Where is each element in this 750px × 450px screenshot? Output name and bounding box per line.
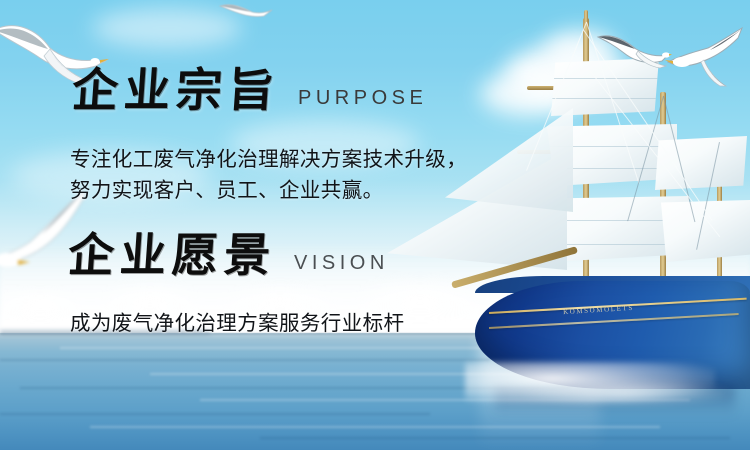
purpose-heading-row: 企业宗旨 PURPOSE <box>72 68 427 114</box>
seagull-over-mast-left <box>596 31 672 71</box>
bow-wave <box>515 380 735 406</box>
vision-heading-cn: 企业愿景 <box>66 233 277 279</box>
main-mast <box>660 92 666 297</box>
purpose-heading-en: PURPOSE <box>298 87 427 110</box>
purpose-line-1: 专注化工废气净化治理解决方案技术升级， <box>70 144 467 175</box>
text-content: 企业宗旨 PURPOSE 专注化工废气净化治理解决方案技术升级， 努力实现客户、… <box>0 0 470 450</box>
purpose-heading-cn: 企业宗旨 <box>70 68 281 114</box>
seagull-over-mast-right <box>664 26 750 90</box>
vision-heading-row: 企业愿景 VISION <box>68 233 389 279</box>
mizzen-topsail <box>655 136 747 190</box>
vision-line-1: 成为废气净化治理方案服务行业标杆 <box>70 308 404 339</box>
sail-seam <box>551 98 659 99</box>
purpose-line-2: 努力实现客户、员工、企业共赢。 <box>70 175 384 206</box>
vision-heading-en: VISION <box>294 252 389 275</box>
promo-banner: KOMSOMOLETS <box>0 0 750 450</box>
